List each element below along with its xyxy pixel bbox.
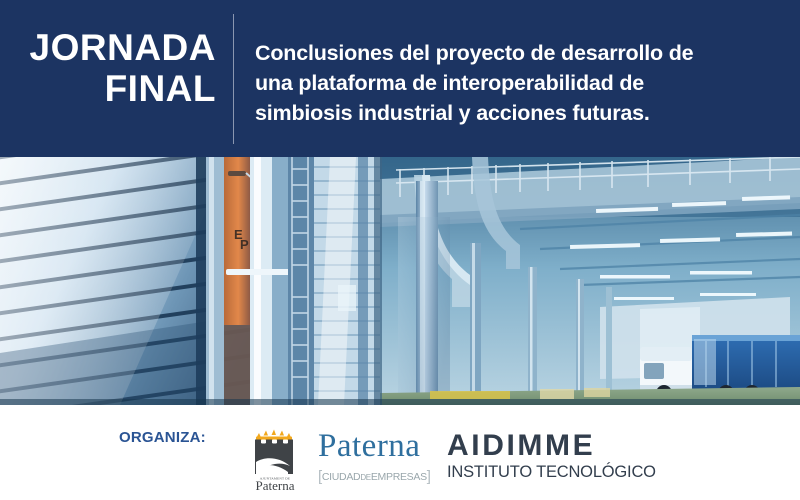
logo-paterna-ciudad-de-empresas[interactable]: Paterna [CIUDADDEEMPRESAS] (318, 428, 438, 490)
tagline-de: DE (360, 473, 371, 482)
tagline-ciudad: CIUDAD (322, 471, 360, 483)
paterna-crest-icon: AJUNTAMENT DE Paterna (240, 424, 310, 494)
logo-aidimme[interactable]: AIDIMME INSTITUTO TECNOLÓGICO (447, 430, 656, 482)
title-line-1: JORNADA (30, 27, 216, 68)
event-poster: JORNADA FINAL Conclusiones del proyecto … (0, 0, 800, 500)
title-line-2: FINAL (0, 68, 216, 109)
subtitle-line-1: Conclusiones del proyecto de desarrollo … (255, 38, 775, 68)
tagline-empresas: EMPRESAS (371, 471, 427, 483)
page-title: JORNADA FINAL (0, 27, 216, 109)
warehouse-photo: E P (0, 157, 800, 405)
subtitle-line-2: una plataforma de interoperabilidad de (255, 68, 775, 98)
warehouse-photo-illustration: E P (0, 157, 800, 405)
paterna-wordmark: Paterna (318, 428, 438, 464)
aidimme-tagline: INSTITUTO TECNOLÓGICO (447, 463, 656, 482)
organiza-label: ORGANIZA: (119, 429, 206, 446)
aidimme-wordmark: AIDIMME (447, 430, 656, 461)
svg-text:P: P (240, 237, 249, 252)
header-band: JORNADA FINAL Conclusiones del proyecto … (0, 0, 800, 157)
crest-word: Paterna (256, 478, 295, 493)
subtitle-line-3: simbiosis industrial y acciones futuras. (255, 98, 775, 128)
header-subtitle: Conclusiones del proyecto de desarrollo … (255, 38, 775, 128)
paterna-tagline: [CIUDADDEEMPRESAS] (318, 468, 438, 485)
header-vertical-divider (233, 14, 234, 144)
bracket-close-icon: ] (427, 468, 431, 485)
logo-ajuntament-paterna[interactable]: AJUNTAMENT DE Paterna (240, 424, 310, 494)
